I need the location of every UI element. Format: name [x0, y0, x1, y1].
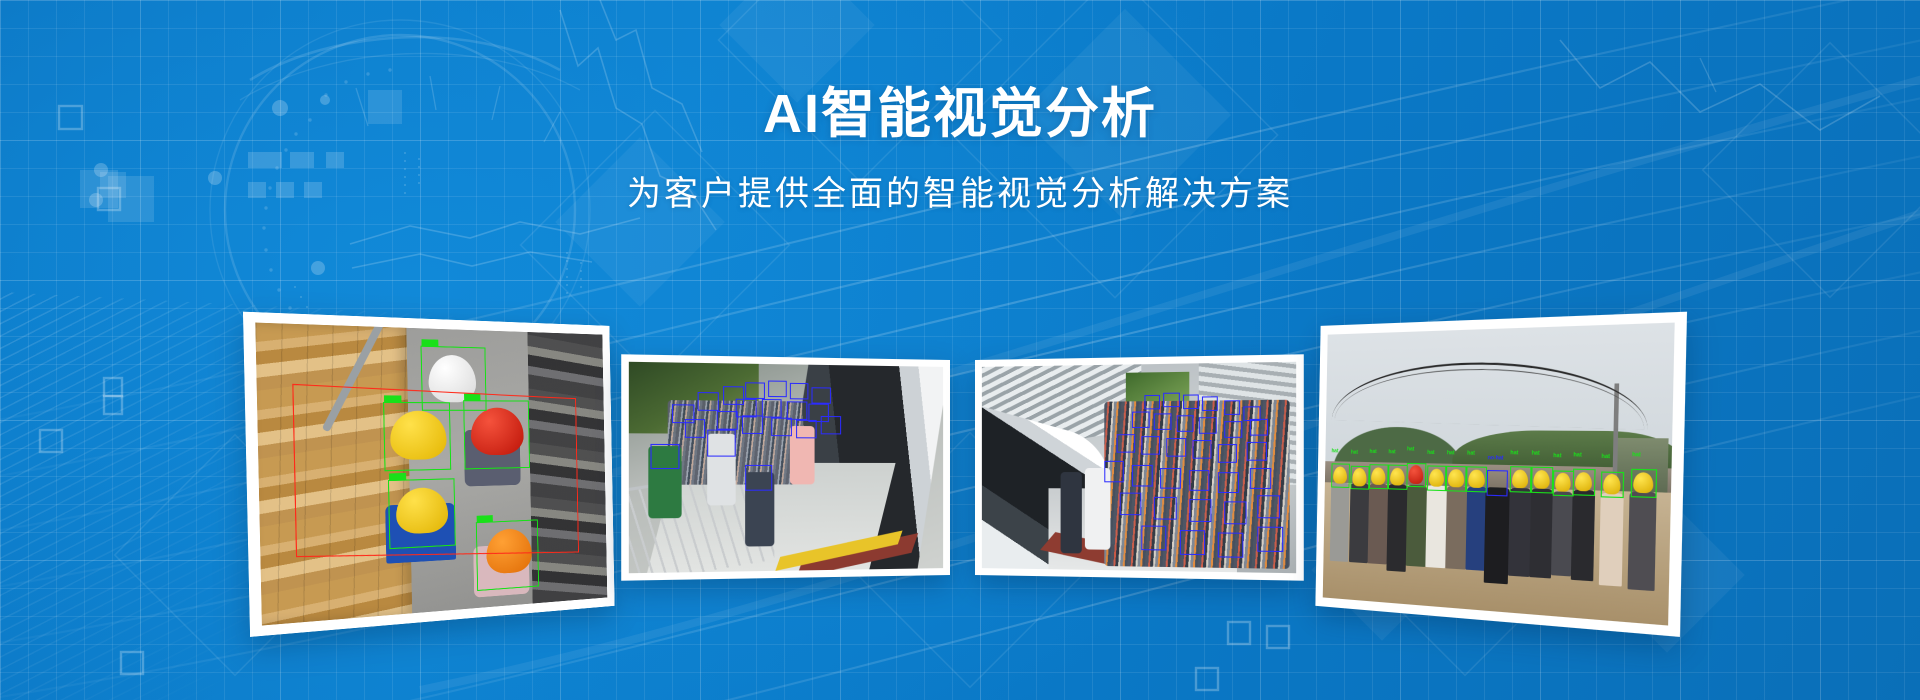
person-torso [1406, 484, 1427, 567]
detection-box-hat [1350, 465, 1369, 490]
detection-box-head [1119, 492, 1141, 515]
photo-construction-hat-detection: hat hat hat hat hat hat hat hat [1323, 323, 1675, 626]
detection-box-hat [1331, 464, 1350, 488]
detection-box-hat [1466, 467, 1487, 493]
detection-box-head [1179, 530, 1205, 555]
detection-box-head [1145, 395, 1161, 410]
detection-box-head [746, 465, 773, 490]
detection-box-head [1218, 444, 1237, 463]
detection-label-hat: hat [1553, 454, 1561, 460]
detection-box-hat [1369, 465, 1388, 490]
detection-label-hat: hat [1573, 453, 1581, 459]
detection-box-head [1141, 525, 1166, 550]
detection-box-head [812, 387, 831, 404]
person-torso [1571, 489, 1595, 581]
photo-warehouse-helmet [255, 323, 607, 626]
detection-box-head [1202, 396, 1218, 411]
detection-gallery: hat hat hat hat hat hat hat hat [0, 318, 1920, 648]
detection-box-hat [1446, 466, 1467, 492]
detection-box-hat [1631, 469, 1657, 498]
detection-box-no-hat [1487, 470, 1508, 496]
detection-box-head [742, 416, 763, 435]
gallery-card-station-dense-crowd-detection[interactable] [975, 354, 1304, 580]
detection-box-head [1189, 470, 1210, 491]
detection-label-hat: hat [1510, 451, 1518, 457]
detection-box-head [761, 399, 782, 418]
detection-box-head [1257, 526, 1283, 552]
person-torso [1445, 486, 1467, 570]
detection-label-hat: hat [1351, 451, 1358, 456]
roi-polygon-red [292, 383, 579, 556]
detection-box-head [796, 420, 816, 439]
detection-box-head [768, 381, 787, 398]
detection-box-head [1154, 414, 1171, 431]
photo-platform-crowd [629, 362, 943, 573]
banner-subtitle: 为客户提供全面的智能视觉分析解决方案 [0, 166, 1920, 215]
person-torso [1551, 492, 1573, 577]
card-photo-platform [629, 362, 943, 573]
detection-box-head [1189, 499, 1211, 522]
detection-box-head [1104, 461, 1124, 482]
detection-box-hat [1573, 469, 1596, 496]
card-photo-construction: hat hat hat hat hat hat hat hat [1323, 323, 1675, 626]
person-torso [1386, 484, 1407, 572]
detection-label-hat: hat [1370, 450, 1377, 455]
person-torso [1368, 483, 1388, 565]
detection-label-hat: hat [1467, 451, 1475, 456]
detection-box-hat [1388, 465, 1408, 490]
photo-station-dense-crowd [982, 362, 1296, 573]
detection-label-hat: hat [1447, 451, 1455, 456]
ai-vision-banner: AI智能视觉分析 为客户提供全面的智能视觉分析解决方案 [0, 0, 1920, 700]
detection-box-head [1224, 501, 1247, 524]
detection-box-head [1218, 532, 1244, 557]
person-torso [1349, 483, 1369, 564]
detection-box-hat [1426, 466, 1446, 491]
person-torso [1508, 488, 1531, 577]
detection-box-head [1116, 434, 1135, 453]
detection-box-head [1247, 442, 1267, 461]
gallery-card-construction-site-hat-detection[interactable]: hat hat hat hat hat hat hat hat [1315, 312, 1687, 637]
banner-text-block: AI智能视觉分析 为客户提供全面的智能视觉分析解决方案 [0, 84, 1920, 215]
detection-label-hat: hat [1407, 448, 1414, 453]
detection-label-hat: hat [1331, 449, 1338, 454]
detection-box-head [1224, 421, 1242, 438]
detection-box-hat [1531, 467, 1553, 493]
person-torso [1529, 488, 1552, 578]
person-torso [1599, 493, 1624, 586]
detection-box-head [1132, 465, 1152, 486]
person-torso-leader [1484, 487, 1510, 584]
detection-box-head [1154, 496, 1176, 519]
detection-box-hat [1406, 463, 1426, 488]
detection-box-head [1218, 472, 1239, 493]
detection-label-no-hat: no-hat [1488, 456, 1504, 462]
detection-box-head [684, 419, 705, 438]
person-torso [1425, 485, 1446, 569]
detection-box-hat [1510, 466, 1532, 492]
detection-box-head [1250, 468, 1271, 489]
detection-label-hat: hat [1601, 455, 1610, 461]
detection-box-head [707, 430, 736, 457]
detection-box-head [1250, 419, 1268, 436]
detection-label-hat: hat [1532, 451, 1540, 457]
detection-box-head [1192, 440, 1211, 459]
detection-box-head [1176, 415, 1194, 432]
detection-label-hat: hat [1388, 450, 1395, 455]
detection-label-hat: hat [1632, 452, 1641, 458]
detection-box-head [1141, 436, 1160, 455]
card-photo-warehouse [255, 323, 607, 626]
detection-label-hat: hat [1427, 451, 1435, 456]
detection-box-head [746, 382, 765, 399]
detection-box-head [1199, 417, 1217, 434]
detection-box-head [790, 383, 809, 400]
detection-box-head [1224, 400, 1240, 415]
detection-box-head [717, 411, 738, 430]
detection-box-head [1132, 412, 1149, 429]
detection-box-hat [1601, 471, 1624, 498]
detection-box-head [1164, 393, 1180, 408]
detection-box-head [1257, 495, 1280, 518]
detection-box-head [1160, 468, 1181, 489]
person-torso [1329, 482, 1349, 562]
banner-title: AI智能视觉分析 [0, 84, 1920, 144]
card-photo-station [982, 362, 1296, 573]
detection-box-head [1167, 438, 1186, 457]
gallery-card-platform-crowd-detection[interactable] [621, 354, 950, 580]
person-torso [1628, 491, 1657, 591]
detection-box-head [771, 418, 791, 437]
detection-box-head [821, 416, 841, 435]
detection-box-hat [1552, 470, 1574, 497]
person-dark-suit [1061, 472, 1083, 554]
gallery-card-warehouse-helmet-detection[interactable] [243, 312, 615, 637]
detection-box-head [697, 392, 718, 411]
detection-box-head [650, 444, 679, 469]
detection-box-head [1183, 395, 1199, 410]
